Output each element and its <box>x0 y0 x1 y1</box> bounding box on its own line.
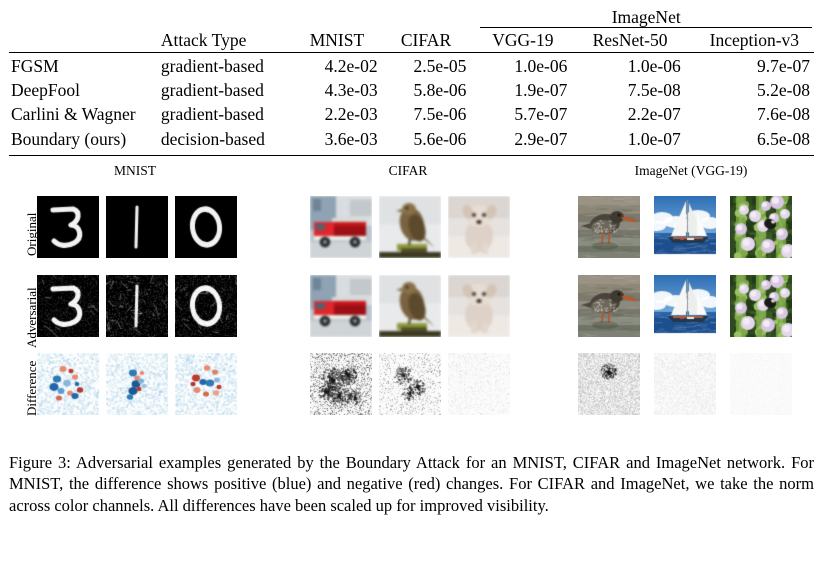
group-title-mnist: MNIST <box>37 163 233 179</box>
results-table: ImageNet Attack Type MNIST CIFAR VGG-19 … <box>9 8 814 156</box>
cell-cifar: 7.5e-06 <box>386 102 479 126</box>
figure-image-grid: MNIST CIFAR ImageNet (VGG-19) Original A… <box>0 163 823 425</box>
cell-attack-type: gradient-based <box>161 78 296 102</box>
table-bottom-rule-row <box>9 151 814 156</box>
cell-vgg19: 1.9e-07 <box>478 78 579 102</box>
tile-mnist-original-2 <box>106 196 168 258</box>
column-header-resnet50: ResNet-50 <box>579 30 698 52</box>
group-title-cifar: CIFAR <box>310 163 506 179</box>
cell-attack-type: decision-based <box>161 127 296 151</box>
tile-imagenet-adversarial-2 <box>654 275 716 337</box>
group-title-imagenet: ImageNet (VGG-19) <box>578 163 804 179</box>
tile-cifar-original-1 <box>310 196 372 258</box>
tile-imagenet-difference-2 <box>654 353 716 415</box>
tile-cifar-difference-3 <box>448 353 510 415</box>
table-group-header-row: ImageNet <box>9 8 814 27</box>
table-row: DeepFool gradient-based 4.3e-03 5.8e-06 … <box>9 78 814 102</box>
tile-mnist-adversarial-1 <box>37 275 99 337</box>
cell-cifar: 2.5e-05 <box>386 53 479 77</box>
empty-corner-cell <box>9 8 161 27</box>
cell-cifar: 5.6e-06 <box>386 127 479 151</box>
cell-method: FGSM <box>9 53 161 77</box>
cell-cifar: 5.8e-06 <box>386 78 479 102</box>
group-header-imagenet: ImageNet <box>478 8 814 27</box>
table-row: Carlini & Wagner gradient-based 2.2e-03 … <box>9 102 814 126</box>
cell-vgg19: 1.0e-06 <box>478 53 579 77</box>
tile-mnist-difference-2 <box>106 353 168 415</box>
tile-mnist-original-3 <box>175 196 237 258</box>
cell-mnist: 4.2e-02 <box>296 53 385 77</box>
tile-imagenet-original-1 <box>578 196 640 258</box>
cell-method: DeepFool <box>9 78 161 102</box>
tile-mnist-adversarial-2 <box>106 275 168 337</box>
cell-attack-type: gradient-based <box>161 102 296 126</box>
tile-cifar-adversarial-3 <box>448 275 510 337</box>
table-bottom-rule <box>9 151 814 156</box>
tile-mnist-difference-1 <box>37 353 99 415</box>
tile-imagenet-adversarial-3 <box>730 275 792 337</box>
tile-imagenet-original-3 <box>730 196 792 258</box>
cell-resnet50: 7.5e-08 <box>579 78 698 102</box>
tile-imagenet-adversarial-1 <box>578 275 640 337</box>
cell-resnet50: 2.2e-07 <box>579 102 698 126</box>
tile-cifar-original-2 <box>379 196 441 258</box>
cell-vgg19: 5.7e-07 <box>478 102 579 126</box>
cell-inception-v3: 7.6e-08 <box>699 102 814 126</box>
tile-imagenet-difference-1 <box>578 353 640 415</box>
caption-label: Figure 3: <box>9 453 71 472</box>
column-header-attack-type: Attack Type <box>161 30 296 52</box>
table-row: Boundary (ours) decision-based 3.6e-03 5… <box>9 127 814 151</box>
tile-cifar-adversarial-1 <box>310 275 372 337</box>
cell-inception-v3: 9.7e-07 <box>699 53 814 77</box>
empty-cell-attack <box>161 8 296 27</box>
tile-mnist-original-1 <box>37 196 99 258</box>
cell-attack-type: gradient-based <box>161 53 296 77</box>
cell-method: Carlini & Wagner <box>9 102 161 126</box>
cell-method: Boundary (ours) <box>9 127 161 151</box>
cell-inception-v3: 6.5e-08 <box>699 127 814 151</box>
cell-resnet50: 1.0e-07 <box>579 127 698 151</box>
empty-cell-mnist <box>296 8 385 27</box>
figure-caption: Figure 3: Adversarial examples generated… <box>9 452 814 516</box>
tile-cifar-difference-2 <box>379 353 441 415</box>
table-row: FGSM gradient-based 4.2e-02 2.5e-05 1.0e… <box>9 53 814 77</box>
tile-cifar-adversarial-2 <box>379 275 441 337</box>
column-header-cifar: CIFAR <box>386 30 479 52</box>
empty-cell-cifar <box>386 8 479 27</box>
cell-mnist: 3.6e-03 <box>296 127 385 151</box>
cell-mnist: 2.2e-03 <box>296 102 385 126</box>
column-header-mnist: MNIST <box>296 30 385 52</box>
caption-text: Adversarial examples generated by the Bo… <box>9 453 814 515</box>
cell-resnet50: 1.0e-06 <box>579 53 698 77</box>
tile-cifar-original-3 <box>448 196 510 258</box>
table-column-header-row: Attack Type MNIST CIFAR VGG-19 ResNet-50… <box>9 30 814 52</box>
column-header-method <box>9 30 161 52</box>
tile-imagenet-difference-3 <box>730 353 792 415</box>
tile-cifar-difference-1 <box>310 353 372 415</box>
column-header-inception-v3: Inception-v3 <box>699 30 814 52</box>
tile-mnist-adversarial-3 <box>175 275 237 337</box>
cell-mnist: 4.3e-03 <box>296 78 385 102</box>
tile-mnist-difference-3 <box>175 353 237 415</box>
cell-inception-v3: 5.2e-08 <box>699 78 814 102</box>
column-header-vgg19: VGG-19 <box>478 30 579 52</box>
tile-imagenet-original-2 <box>654 196 716 258</box>
cell-vgg19: 2.9e-07 <box>478 127 579 151</box>
results-table-container: ImageNet Attack Type MNIST CIFAR VGG-19 … <box>9 8 814 156</box>
